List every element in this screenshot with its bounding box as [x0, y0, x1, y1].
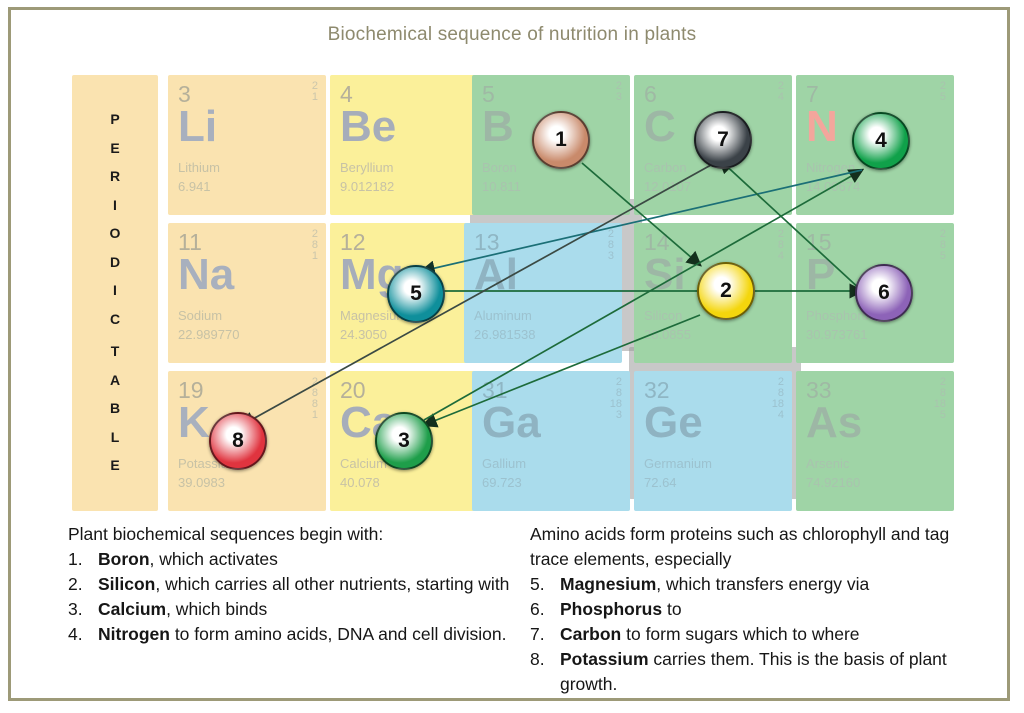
caption-list-item: 4.Nitrogen to form amino acids, DNA and …: [68, 622, 518, 647]
sequence-ball-7[interactable]: 7: [694, 111, 752, 169]
periodic-table-panel: PERIODIC TABLE 3 Li Lithium 6.941 21 4 B…: [72, 75, 952, 511]
element-cell-li[interactable]: 3 Li Lithium 6.941 21: [168, 75, 326, 215]
caption-list-item: 8.Potassium carries them. This is the ba…: [530, 647, 990, 697]
sequence-ball-5[interactable]: 5: [387, 265, 445, 323]
list-item-text: Nitrogen to form amino acids, DNA and ce…: [98, 622, 518, 647]
sequence-ball-6[interactable]: 6: [855, 264, 913, 322]
caption-lead-left: Plant biochemical sequences begin with:: [68, 522, 518, 547]
list-item-index: 8.: [530, 647, 560, 672]
sequence-ball-label: 1: [555, 128, 567, 152]
element-symbol: B: [482, 105, 514, 149]
sidebar-label-table: TABLE: [72, 337, 158, 480]
element-symbol: Be: [340, 105, 396, 149]
shell-count: 4: [778, 251, 784, 262]
list-item-text: Phosphorus to: [560, 597, 990, 622]
electron-shells: 283: [608, 229, 614, 262]
list-item-text: Potassium carries them. This is the basi…: [560, 647, 990, 697]
element-symbol: Ge: [644, 401, 703, 445]
electron-shells: 24: [778, 81, 784, 103]
element-name: Sodium: [178, 308, 222, 323]
sequence-ball-label: 6: [878, 281, 890, 305]
element-symbol: C: [644, 105, 676, 149]
atomic-mass: 24.3050: [340, 327, 387, 342]
page-title: Biochemical sequence of nutrition in pla…: [0, 24, 1024, 46]
electron-shells: 285: [940, 229, 946, 262]
sequence-ball-label: 7: [717, 128, 729, 152]
sidebar-letter: R: [72, 162, 158, 191]
element-name: Germanium: [644, 456, 712, 471]
caption-list-item: 1.Boron, which activates: [68, 547, 518, 572]
caption-lead-right: Amino acids form proteins such as chloro…: [530, 522, 990, 572]
caption-list-item: 3.Calcium, which binds: [68, 597, 518, 622]
sidebar-letter: I: [72, 276, 158, 305]
atomic-mass: 39.0983: [178, 475, 225, 490]
electron-shells: 21: [312, 81, 318, 103]
element-name: Nitrogen: [806, 160, 855, 175]
shell-count: 5: [940, 251, 946, 262]
electron-shells: 284: [778, 229, 784, 262]
list-item-element: Nitrogen: [98, 624, 170, 644]
electron-shells: 2881: [312, 377, 318, 421]
sequence-ball-4[interactable]: 4: [852, 112, 910, 170]
element-cell-na[interactable]: 11 Na Sodium 22.989770 281: [168, 223, 326, 363]
element-symbol: P: [806, 253, 835, 297]
element-symbol: As: [806, 401, 862, 445]
atomic-mass: 72.64: [644, 475, 677, 490]
sequence-ball-label: 8: [232, 429, 244, 453]
caption-column-right: Amino acids form proteins such as chloro…: [530, 522, 990, 697]
caption-list-right: 5.Magnesium, which transfers energy via6…: [530, 572, 990, 697]
element-cell-ge[interactable]: 32 Ge Germanium 72.64 28184: [634, 371, 792, 511]
caption-column-left: Plant biochemical sequences begin with: …: [68, 522, 518, 647]
list-item-text: Carbon to form sugars which to where: [560, 622, 990, 647]
list-item-element: Silicon: [98, 574, 155, 594]
list-item-index: 4.: [68, 622, 98, 647]
element-name: Aluminum: [474, 308, 532, 323]
sequence-ball-1[interactable]: 1: [532, 111, 590, 169]
element-cell-be[interactable]: 4 Be Beryllium 9.012182 22: [330, 75, 488, 215]
shell-count: 3: [616, 92, 622, 103]
shell-count: 4: [778, 92, 784, 103]
list-item-element: Magnesium: [560, 574, 656, 594]
list-item-index: 6.: [530, 597, 560, 622]
list-item-element: Carbon: [560, 624, 621, 644]
list-item-index: 3.: [68, 597, 98, 622]
element-name: Silicon: [644, 308, 682, 323]
list-item-index: 2.: [68, 572, 98, 597]
sidebar-letter: D: [72, 248, 158, 277]
list-item-index: 7.: [530, 622, 560, 647]
sidebar-letter: T: [72, 337, 158, 366]
caption-list-item: 5.Magnesium, which transfers energy via: [530, 572, 990, 597]
element-name: Gallium: [482, 456, 526, 471]
atomic-mass: 26.981538: [474, 327, 535, 342]
poster-root: Biochemical sequence of nutrition in pla…: [0, 0, 1024, 713]
shell-count: 5: [940, 92, 946, 103]
atomic-mass: 28.0855: [644, 327, 691, 342]
sequence-ball-label: 5: [410, 282, 422, 306]
electron-shells: 23: [616, 81, 622, 103]
element-symbol: Si: [644, 253, 686, 297]
sequence-ball-2[interactable]: 2: [697, 262, 755, 320]
shell-count: 1: [312, 92, 318, 103]
element-name: Arsenic: [806, 456, 849, 471]
atomic-mass: 40.078: [340, 475, 380, 490]
list-item-element: Phosphorus: [560, 599, 662, 619]
sidebar-letter: I: [72, 191, 158, 220]
atomic-mass: 14.00674: [806, 179, 860, 194]
list-item-element: Potassium: [560, 649, 649, 669]
atomic-mass: 69.723: [482, 475, 522, 490]
list-item-element: Boron: [98, 549, 150, 569]
element-name: Boron: [482, 160, 517, 175]
atomic-mass: 30.973761: [806, 327, 867, 342]
electron-shells: 28185: [934, 377, 946, 421]
element-cell-ga[interactable]: 31 Ga Gallium 69.723 28183: [472, 371, 630, 511]
list-item-text: Magnesium, which transfers energy via: [560, 572, 990, 597]
list-item-text: Boron, which activates: [98, 547, 518, 572]
element-cell-al[interactable]: 13 Al Aluminum 26.981538 283: [464, 223, 622, 363]
sidebar-letter: L: [72, 423, 158, 452]
element-name: Carbon: [644, 160, 687, 175]
sidebar-letter: C: [72, 305, 158, 334]
atomic-mass: 9.012182: [340, 179, 394, 194]
list-item-text: Calcium, which binds: [98, 597, 518, 622]
atomic-mass: 10.811: [482, 179, 521, 194]
sidebar-letter: P: [72, 105, 158, 134]
element-symbol: N: [806, 105, 838, 149]
atomic-mass: 74.92160: [806, 475, 860, 490]
sequence-ball-label: 3: [398, 429, 410, 453]
atomic-mass: 6.941: [178, 179, 211, 194]
electron-shells: 281: [312, 229, 318, 262]
sidebar-label-periodic: PERIODIC: [72, 105, 158, 333]
sequence-ball-3[interactable]: 3: [375, 412, 433, 470]
sidebar-letter: E: [72, 451, 158, 480]
element-symbol: K: [178, 401, 210, 445]
list-item-index: 1.: [68, 547, 98, 572]
caption-list-item: 2.Silicon, which carries all other nutri…: [68, 572, 518, 597]
element-cell-as[interactable]: 33 As Arsenic 74.92160 28185: [796, 371, 954, 511]
shell-count: 3: [610, 410, 622, 421]
caption-list-item: 6.Phosphorus to: [530, 597, 990, 622]
caption-list-item: 7.Carbon to form sugars which to where: [530, 622, 990, 647]
electron-shells: 28183: [610, 377, 622, 421]
sequence-ball-label: 4: [875, 129, 887, 153]
list-item-index: 5.: [530, 572, 560, 597]
sidebar-letter: O: [72, 219, 158, 248]
electron-shells: 25: [940, 81, 946, 103]
element-symbol: Ga: [482, 401, 541, 445]
list-item-element: Calcium: [98, 599, 166, 619]
element-symbol: Al: [474, 253, 518, 297]
sidebar-letter: B: [72, 394, 158, 423]
element-symbol: Na: [178, 253, 234, 297]
shell-count: 3: [608, 251, 614, 262]
atomic-mass: 22.989770: [178, 327, 239, 342]
list-item-text: Silicon, which carries all other nutrien…: [98, 572, 518, 597]
sequence-ball-label: 2: [720, 279, 732, 303]
atomic-mass: 12.0107: [644, 179, 691, 194]
sequence-ball-8[interactable]: 8: [209, 412, 267, 470]
element-name: Lithium: [178, 160, 220, 175]
element-name: Beryllium: [340, 160, 393, 175]
shell-count: 1: [312, 251, 318, 262]
sidebar-letter: E: [72, 134, 158, 163]
caption-area: Plant biochemical sequences begin with: …: [0, 522, 1024, 697]
shell-count: 5: [934, 410, 946, 421]
caption-list-left: 1.Boron, which activates2.Silicon, which…: [68, 547, 518, 647]
electron-shells: 28184: [772, 377, 784, 421]
sidebar-letter: A: [72, 366, 158, 395]
element-symbol: Li: [178, 105, 217, 149]
shell-count: 4: [772, 410, 784, 421]
periodic-table-sidebar: PERIODIC TABLE: [72, 75, 158, 511]
shell-count: 1: [312, 410, 318, 421]
